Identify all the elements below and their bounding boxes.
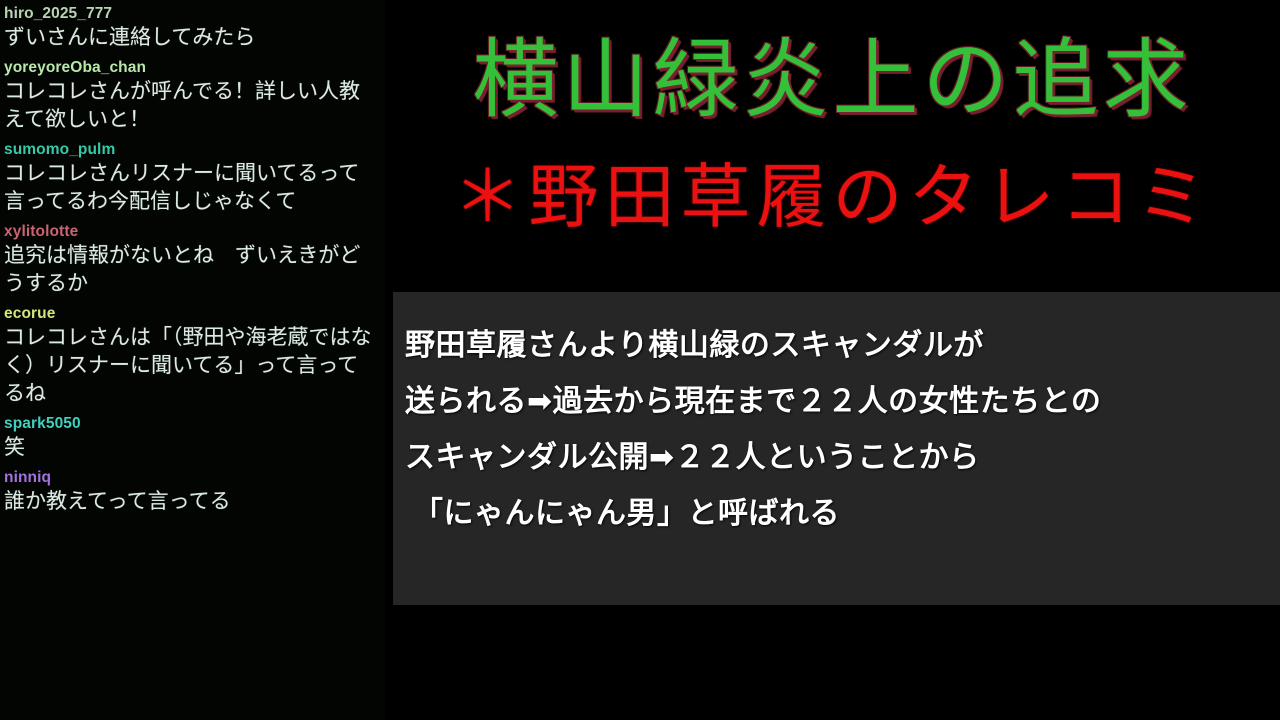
chat-message-text: 追究は情報がないとね ずいえきがどうするか xyxy=(4,242,379,298)
stream-overlay-stage: hiro_2025_777 ずいさんに連絡してみたら yoreyoreOba_c… xyxy=(0,0,1280,720)
list-item: ninniq 誰か教えてって言ってる xyxy=(4,468,379,516)
chat-message-text: コレコレさんリスナーに聞いてるって言ってるわ今配信しじゃなくて xyxy=(4,160,379,216)
list-item: yoreyoreOba_chan コレコレさんが呼んでる！詳しい人教えて欲しいと… xyxy=(4,58,379,134)
list-item: hiro_2025_777 ずいさんに連絡してみたら xyxy=(4,4,379,52)
list-item: xylitolotte 追究は情報がないとね ずいえきがどうするか xyxy=(4,222,379,298)
summary-panel: 野田草履さんより横山緑のスキャンダルが 送られる➡過去から現在まで２２人の女性た… xyxy=(393,292,1280,605)
main-content-area: 横山緑炎上の追求 ＊野田草履のタレコミ 野田草履さんより横山緑のスキャンダルが … xyxy=(385,0,1280,720)
list-item: ecorue コレコレさんは「（野田や海老蔵ではなく）リスナーに聞いてる」って言… xyxy=(4,304,379,408)
chat-message-text: コレコレさんが呼んでる！詳しい人教えて欲しいと！ xyxy=(4,78,379,134)
page-subtitle: ＊野田草履のタレコミ xyxy=(385,154,1280,240)
chat-message-text: ずいさんに連絡してみたら xyxy=(4,24,379,52)
list-item: sumomo_pulm コレコレさんリスナーに聞いてるって言ってるわ今配信しじゃ… xyxy=(4,140,379,216)
list-item: spark5050 笑 xyxy=(4,414,379,462)
chat-username[interactable]: spark5050 xyxy=(4,414,379,434)
summary-line: 野田草履さんより横山緑のスキャンダルが xyxy=(405,318,1266,374)
summary-line: スキャンダル公開➡２２人ということから xyxy=(405,430,1266,486)
chat-message-text: 誰か教えてって言ってる xyxy=(4,488,379,516)
title-block: 横山緑炎上の追求 ＊野田草履のタレコミ xyxy=(385,24,1280,240)
chat-username[interactable]: hiro_2025_777 xyxy=(4,4,379,24)
chat-username[interactable]: yoreyoreOba_chan xyxy=(4,58,379,78)
chat-username[interactable]: xylitolotte xyxy=(4,222,379,242)
chat-username[interactable]: ninniq xyxy=(4,468,379,488)
live-chat-panel[interactable]: hiro_2025_777 ずいさんに連絡してみたら yoreyoreOba_c… xyxy=(0,0,385,720)
summary-line: 「にゃんにゃん男」と呼ばれる xyxy=(405,486,1266,542)
chat-message-text: 笑 xyxy=(4,434,379,462)
chat-username[interactable]: sumomo_pulm xyxy=(4,140,379,160)
chat-username[interactable]: ecorue xyxy=(4,304,379,324)
chat-message-text: コレコレさんは「（野田や海老蔵ではなく）リスナーに聞いてる」って言ってるね xyxy=(4,324,379,408)
page-title: 横山緑炎上の追求 xyxy=(385,24,1280,136)
summary-line: 送られる➡過去から現在まで２２人の女性たちとの xyxy=(405,374,1266,430)
